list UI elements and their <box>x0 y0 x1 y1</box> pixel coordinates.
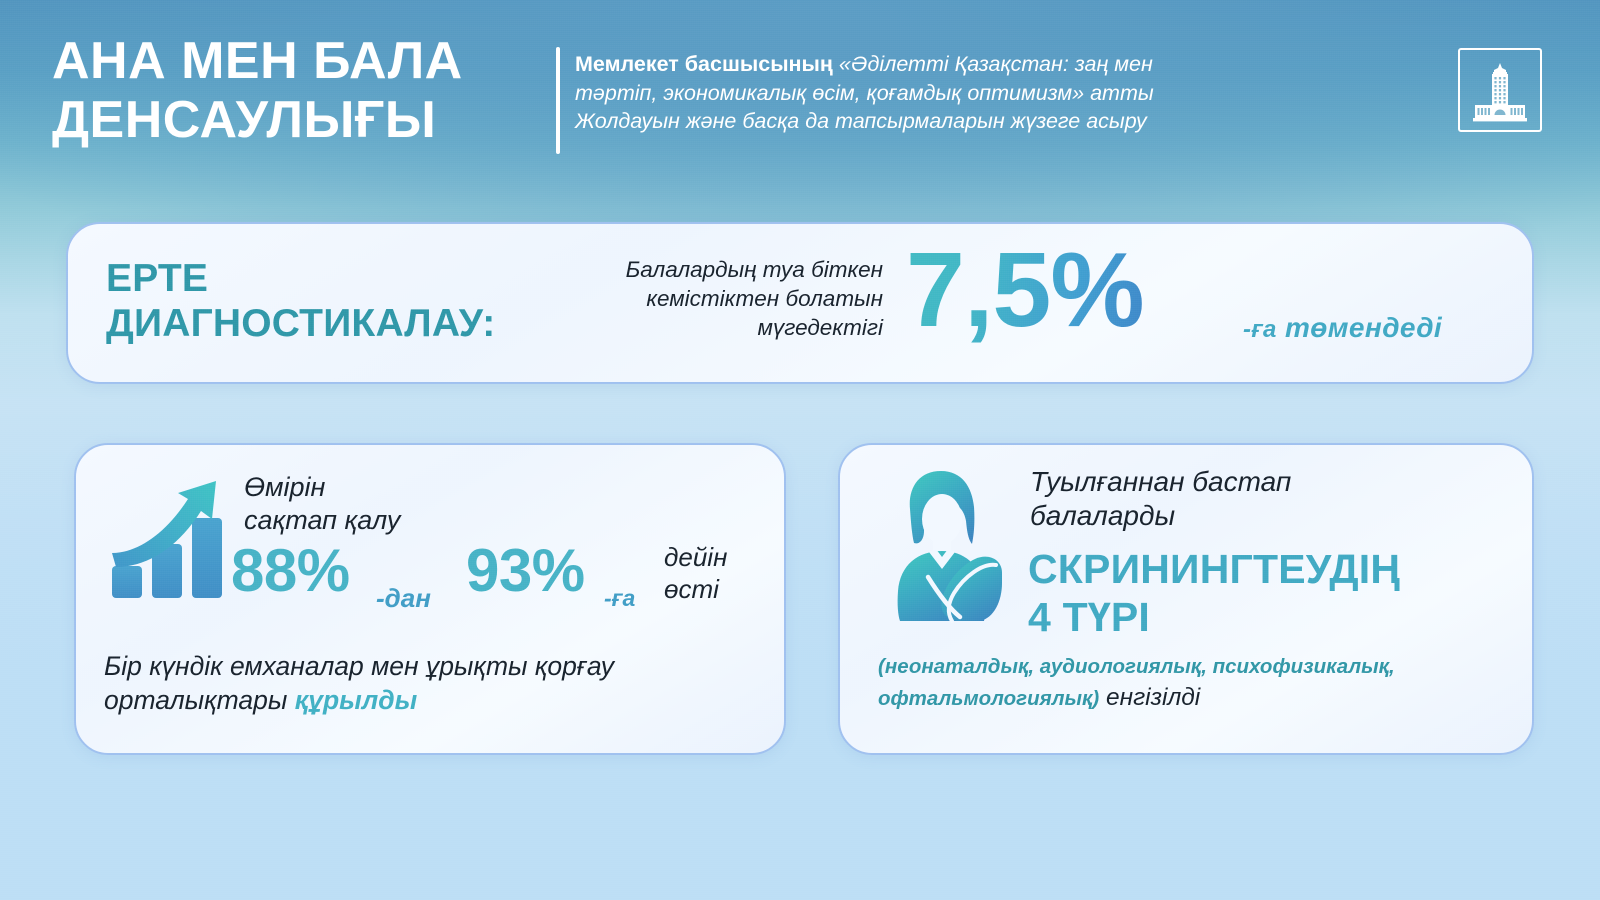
government-building-emblem-icon <box>1458 48 1542 132</box>
survival-rate-card: Өмірін сақтап қалу 88% -дан 93% -ға дейі… <box>74 443 786 755</box>
early-diagnosis-case-suffix: -ға <box>1243 316 1277 343</box>
early-diagnosis-suffix: -ға төмендеді <box>1243 312 1442 344</box>
early-diagnosis-description: Балалардың туа біткен кемістіктен болаты… <box>538 256 883 342</box>
early-diagnosis-value: 7,5% <box>906 237 1144 343</box>
survival-from-suffix: -дан <box>376 583 431 614</box>
early-diagnosis-label: ЕРТЕ ДИАГНОСТИКАЛАУ: <box>106 256 495 346</box>
screening-card: Туылғаннан бастап балаларды СКРИНИНГТЕУД… <box>838 443 1534 755</box>
screening-footer: (неонаталдық, аудиологиялық, психофизика… <box>878 653 1518 714</box>
page-title: АНА МЕН БАЛА ДЕНСАУЛЫҒЫ <box>52 32 532 150</box>
survival-to-value: 93% <box>466 541 585 601</box>
mother-and-baby-icon <box>876 465 1006 625</box>
infographic-canvas: АНА МЕН БАЛА ДЕНСАУЛЫҒЫ Мемлекет басшысы… <box>0 0 1600 900</box>
survival-footer-highlight: құрылды <box>295 685 418 715</box>
survival-from-value: 88% <box>231 541 350 601</box>
header: АНА МЕН БАЛА ДЕНСАУЛЫҒЫ Мемлекет басшысы… <box>0 0 1600 190</box>
growth-bar-chart-icon <box>104 471 234 601</box>
screening-types-tail: енгізілді <box>1099 684 1200 711</box>
survival-growth-text: дейін өсті <box>664 542 727 605</box>
early-diagnosis-verb: төмендеді <box>1285 312 1442 343</box>
survival-to-suffix: -ға <box>604 585 635 612</box>
survival-label: Өмірін сақтап қалу <box>244 471 400 538</box>
header-subtitle-bold: Мемлекет басшысының <box>575 52 833 76</box>
survival-footer: Бір күндік емханалар мен ұрықты қорғау о… <box>104 649 754 717</box>
header-subtitle: Мемлекет басшысының «Әділетті Қазақстан:… <box>575 50 1175 136</box>
early-diagnosis-card: ЕРТЕ ДИАГНОСТИКАЛАУ: Балалардың туа бітк… <box>66 222 1534 384</box>
header-divider <box>556 47 560 154</box>
screening-headline: СКРИНИНГТЕУДІҢ 4 ТҮРІ <box>1028 545 1400 642</box>
screening-lead-text: Туылғаннан бастап балаларды <box>1030 465 1291 533</box>
